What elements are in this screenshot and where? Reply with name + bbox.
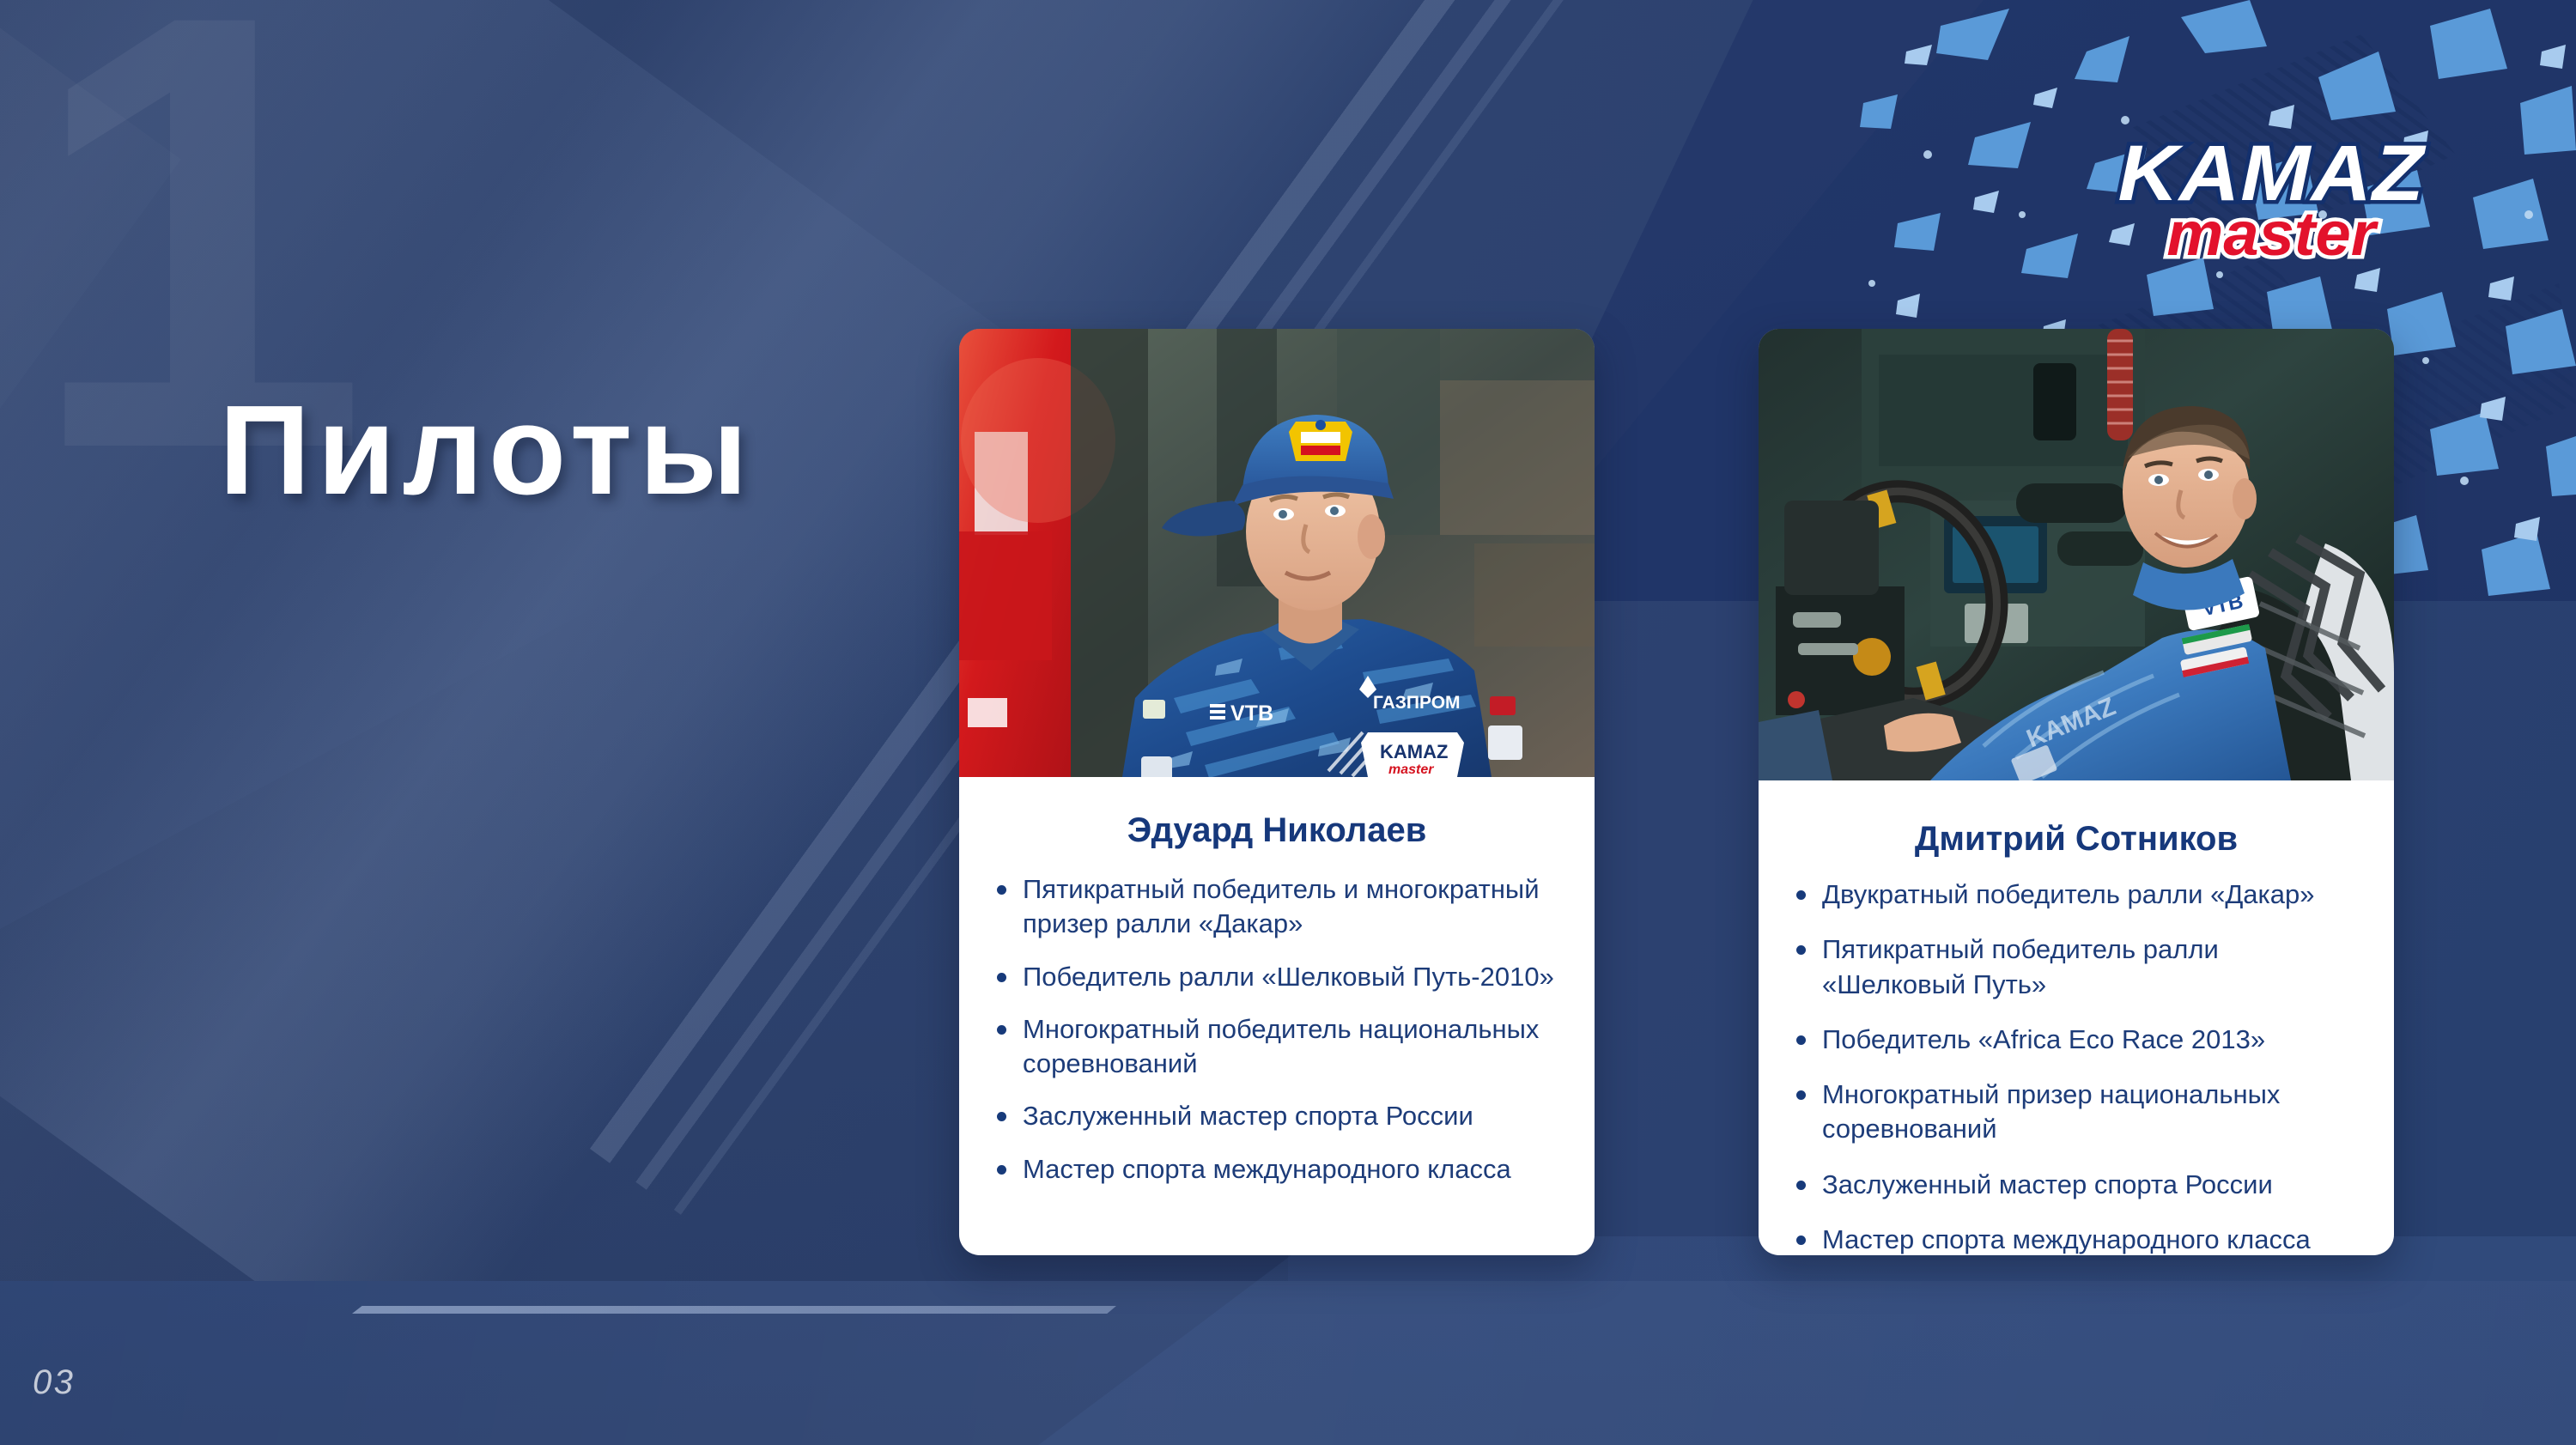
pilot-achievements-nikolaev: Пятикратный победитель и многократный пр… xyxy=(988,872,1565,1187)
svg-text:KAMAZ: KAMAZ xyxy=(1380,741,1448,762)
svg-text:master: master xyxy=(1388,762,1434,777)
kamaz-master-logo: KAMAZ master xyxy=(2069,137,2473,258)
slide: 1 xyxy=(0,0,2576,1445)
pilot-card-sotnikov[interactable]: VTB KAMAZ xyxy=(1759,329,2394,1255)
list-item: Мастер спорта международного класса xyxy=(1788,1223,2365,1255)
list-item: Заслуженный мастер спорта России xyxy=(1788,1168,2365,1202)
page-number: 03 xyxy=(33,1363,75,1402)
pilot-achievements-sotnikov: Двукратный победитель ралли «Дакар» Пяти… xyxy=(1788,877,2365,1255)
logo-master-wordmark: master xyxy=(2063,205,2479,264)
pilot-photo-nikolaev: VTB ГАЗПРОМ KAMAZ master xyxy=(959,329,1595,777)
list-item: Пятикратный победитель ралли «Шелковый П… xyxy=(1788,932,2365,1002)
pilot-photo-sotnikov: VTB KAMAZ xyxy=(1759,329,2394,780)
page-title: Пилоты xyxy=(219,387,755,514)
list-item: Мастер спорта международного класса xyxy=(988,1152,1565,1187)
svg-text:VTB: VTB xyxy=(1230,701,1273,726)
svg-text:ГАЗПРОМ: ГАЗПРОМ xyxy=(1373,693,1461,713)
list-item: Заслуженный мастер спорта России xyxy=(988,1099,1565,1133)
list-item: Многократный победитель национальных сор… xyxy=(988,1012,1565,1082)
pilot-name-nikolaev: Эдуард Николаев xyxy=(988,811,1565,850)
list-item: Победитель ралли «Шелковый Путь-2010» xyxy=(988,960,1565,994)
accent-hairline xyxy=(352,1306,1116,1314)
pilot-name-sotnikov: Дмитрий Сотников xyxy=(1788,820,2365,859)
list-item: Победитель «Africa Eco Race 2013» xyxy=(1788,1023,2365,1057)
list-item: Многократный призер национальных соревно… xyxy=(1788,1078,2365,1147)
pilot-card-body-nikolaev: Эдуард Николаев Пятикратный победитель и… xyxy=(959,811,1595,1187)
pilot-card-body-sotnikov: Дмитрий Сотников Двукратный победитель р… xyxy=(1759,820,2394,1255)
list-item: Двукратный победитель ралли «Дакар» xyxy=(1788,877,2365,912)
pilot-card-nikolaev[interactable]: VTB ГАЗПРОМ KAMAZ master Эдуард Николаев… xyxy=(959,329,1595,1255)
list-item: Пятикратный победитель и многократный пр… xyxy=(988,872,1565,942)
